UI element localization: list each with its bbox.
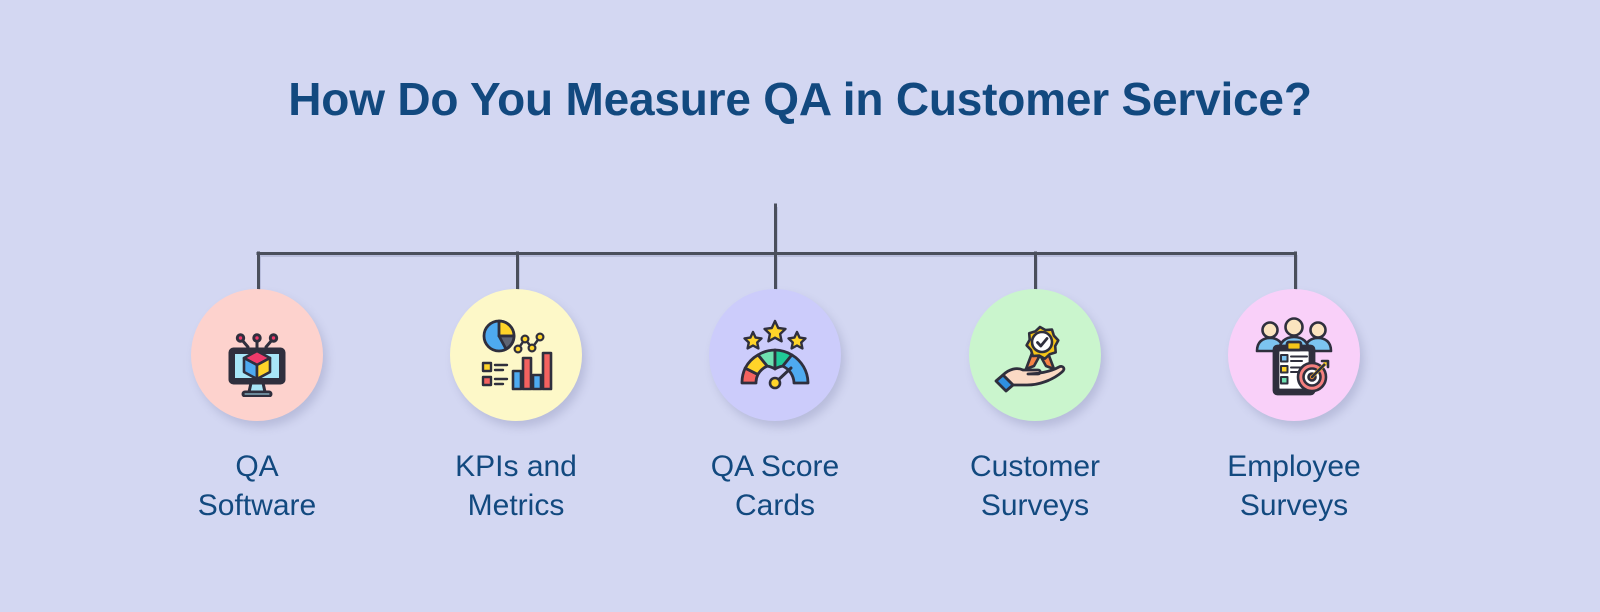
bubble-kpis-and-metrics[interactable] — [450, 289, 582, 421]
bubble-customer-surveys[interactable] — [969, 289, 1101, 421]
bubble-qa-software[interactable] — [191, 289, 323, 421]
bubble-qa-score-cards[interactable] — [709, 289, 841, 421]
node-label-kpis-and-metrics: KPIs and Metrics — [416, 447, 616, 525]
node-qa-score-cards[interactable]: QA Score Cards — [675, 289, 875, 525]
node-customer-surveys[interactable]: Customer Surveys — [935, 289, 1135, 525]
node-kpis-and-metrics[interactable]: KPIs and Metrics — [416, 289, 616, 525]
team-clipboard-target-icon — [1252, 313, 1336, 397]
node-row: QA Software — [0, 289, 1600, 589]
monitor-cube-icon — [215, 313, 299, 397]
hand-award-badge-icon — [993, 313, 1077, 397]
node-employee-surveys[interactable]: Employee Surveys — [1194, 289, 1394, 525]
node-qa-software[interactable]: QA Software — [157, 289, 357, 525]
node-label-qa-score-cards: QA Score Cards — [675, 447, 875, 525]
node-label-qa-software: QA Software — [157, 447, 357, 525]
gauge-stars-icon — [733, 313, 817, 397]
node-label-customer-surveys: Customer Surveys — [935, 447, 1135, 525]
page-title: How Do You Measure QA in Customer Servic… — [0, 72, 1600, 126]
bubble-employee-surveys[interactable] — [1228, 289, 1360, 421]
analytics-charts-icon — [474, 313, 558, 397]
node-label-employee-surveys: Employee Surveys — [1194, 447, 1394, 525]
infographic-root: How Do You Measure QA in Customer Servic… — [0, 0, 1600, 612]
